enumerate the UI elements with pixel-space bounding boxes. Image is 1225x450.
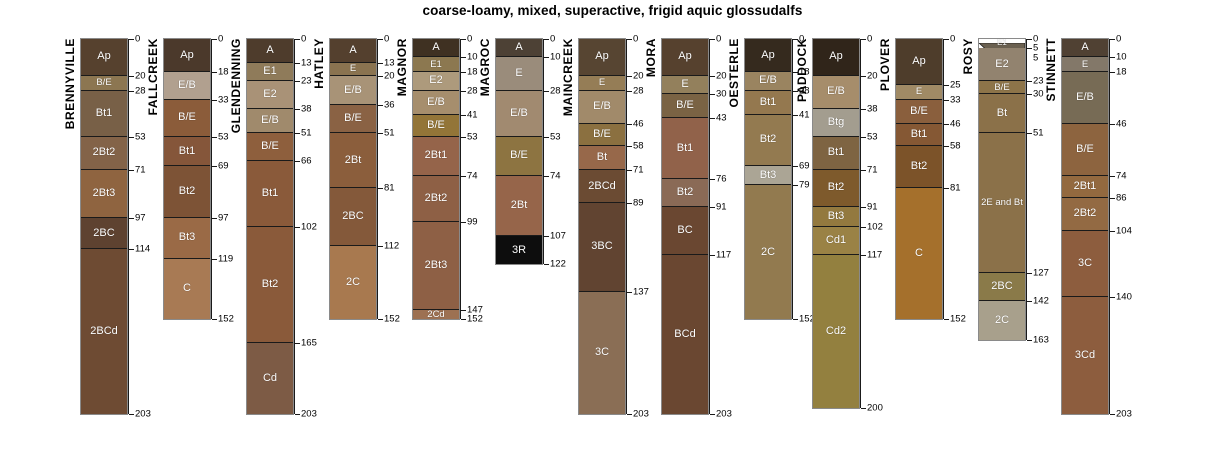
horizon-label: E1: [979, 39, 1025, 47]
depth-tick-label: 0: [633, 34, 638, 44]
horizon-label: C: [183, 283, 191, 294]
horizon-e: E: [1062, 57, 1108, 72]
depth-tick-label: 53: [550, 132, 561, 142]
depth-tick: [1110, 414, 1115, 415]
depth-tick: [861, 39, 866, 40]
horizon-b-e: B/E: [330, 105, 376, 133]
horizon-label: Bt1: [760, 97, 777, 108]
horizon-label: 2Bt2: [93, 147, 116, 158]
depth-tick-label: 28: [550, 86, 561, 96]
depth-tick: [129, 414, 134, 415]
depth-tick-label: 0: [867, 34, 872, 44]
depth-tick-label: 13: [384, 58, 395, 68]
depth-tick: [212, 72, 217, 73]
depth-tick: [861, 76, 866, 77]
horizon-ap: Ap: [81, 39, 127, 76]
horizon-2bc: 2BC: [330, 188, 376, 245]
horizon-label: E: [681, 79, 688, 90]
depth-tick: [212, 259, 217, 260]
depth-tick: [861, 170, 866, 171]
horizon-bt1: Bt1: [662, 118, 708, 179]
horizon-label: E/B: [178, 80, 196, 91]
depth-tick: [944, 124, 949, 125]
depth-tick-label: 69: [799, 162, 810, 172]
depth-tick-label: 20: [867, 71, 878, 81]
depth-tick-label: 152: [950, 315, 966, 325]
depth-tick-label: 137: [633, 287, 649, 297]
depth-tick-label: 46: [950, 119, 961, 129]
horizon-label: B/E: [96, 78, 111, 88]
depth-tick: [627, 91, 632, 92]
horizon-label: Bt: [597, 152, 607, 163]
depth-tick: [212, 319, 217, 320]
horizon-a: A: [330, 39, 376, 63]
depth-tick: [1110, 124, 1115, 125]
horizon-label: E: [515, 68, 522, 79]
horizon-label: 3C: [1078, 258, 1092, 269]
depth-tick-label: 0: [135, 34, 140, 44]
depth-tick-label: 23: [301, 77, 312, 87]
depth-tick: [295, 414, 300, 415]
horizon-e-b: E/B: [247, 109, 293, 133]
depth-tick: [212, 39, 217, 40]
depth-tick-label: 71: [867, 165, 878, 175]
horizon-3c: 3C: [579, 292, 625, 414]
horizon-bcd: BCd: [662, 255, 708, 414]
depth-tick-label: 97: [135, 213, 146, 223]
depth-tick: [544, 91, 549, 92]
soil-profile-plover: PLOVERApEB/EBt1Bt2C02533465881152: [895, 38, 943, 320]
depth-tick: [627, 76, 632, 77]
horizon-3cd: 3Cd: [1062, 297, 1108, 413]
horizon-label: Ap: [97, 51, 110, 62]
depth-tick-label: 81: [950, 184, 961, 194]
horizon-bt3: Bt3: [745, 166, 791, 184]
depth-tick-label: 79: [799, 180, 810, 190]
horizon-label: E2: [263, 89, 276, 100]
horizon-b-e: B/E: [896, 100, 942, 124]
depth-tick: [861, 207, 866, 208]
horizon-bt1: Bt1: [81, 91, 127, 137]
depth-tick-label: 119: [218, 254, 233, 264]
depth-tick: [627, 414, 632, 415]
horizon-label: 2BCd: [90, 326, 118, 337]
horizon-label: B/E: [427, 120, 445, 131]
horizon-label: A: [266, 45, 273, 56]
depth-tick-label: 117: [716, 250, 731, 260]
depth-tick-label: 86: [1116, 193, 1127, 203]
horizon-label: Bt1: [262, 188, 279, 199]
horizon-label: BCd: [674, 329, 695, 340]
depth-tick: [1110, 57, 1115, 58]
horizon-label: 2C: [995, 315, 1009, 326]
horizon-bt: Bt: [979, 94, 1025, 133]
horizon-label: Ap: [678, 51, 691, 62]
horizon-2bc: 2BC: [81, 218, 127, 249]
horizon-2bcd: 2BCd: [579, 170, 625, 203]
depth-tick: [944, 146, 949, 147]
horizon-label: E/B: [1076, 92, 1094, 103]
depth-tick-label: 142: [1033, 296, 1049, 306]
horizon-label: B/E: [910, 106, 928, 117]
depth-tick: [129, 170, 134, 171]
depth-tick: [295, 133, 300, 134]
profile-column: AE1E2E/BB/E2Bt12Bt22Bt32Cd01018284153749…: [412, 38, 460, 320]
horizon-label: E: [350, 64, 356, 74]
depth-tick: [710, 39, 715, 40]
depth-tick: [378, 39, 383, 40]
depth-tick-label: 165: [301, 339, 317, 349]
depth-tick-label: 81: [384, 184, 395, 194]
horizon-bc: BC: [662, 207, 708, 255]
depth-tick-label: 38: [301, 104, 312, 114]
depth-tick: [378, 319, 383, 320]
depth-tick-label: 53: [218, 132, 229, 142]
depth-axis: [377, 39, 378, 319]
horizon-label: Bt: [997, 108, 1007, 119]
depth-tick: [1027, 39, 1032, 40]
depth-tick-label: 91: [867, 202, 878, 212]
depth-tick-label: 66: [301, 156, 312, 166]
depth-tick-label: 104: [1116, 226, 1132, 236]
horizon-bt1: Bt1: [896, 124, 942, 146]
horizon-label: B/E: [344, 113, 362, 124]
depth-tick-label: 0: [384, 34, 389, 44]
horizon-label: 3R: [512, 245, 526, 256]
depth-tick-label: 71: [633, 165, 644, 175]
depth-axis: [460, 39, 461, 319]
horizon-cd1: Cd1: [813, 227, 859, 255]
depth-tick: [710, 207, 715, 208]
horizon-label: 2C: [346, 277, 360, 288]
horizon-e2: E2: [247, 81, 293, 109]
soil-profile-paddock: PADDOCKApE/BBtgBt1Bt2Bt3Cd1Cd20203853719…: [812, 38, 860, 409]
depth-tick: [295, 227, 300, 228]
horizon-label: Bt3: [760, 170, 777, 181]
depth-tick-label: 152: [384, 315, 400, 325]
depth-axis: [1109, 39, 1110, 414]
depth-tick-label: 28: [633, 86, 644, 96]
depth-tick-label: 10: [1116, 53, 1127, 63]
soil-profile-stinnett: STINNETTAEE/BB/E2Bt12Bt23C3Cd01018467486…: [1061, 38, 1109, 415]
soil-profile-oesterle: OESTERLEApE/BBt1Bt2Bt32C01828416979152: [744, 38, 792, 320]
horizon-e1: E1: [413, 57, 459, 72]
depth-tick-label: 69: [218, 162, 229, 172]
horizon-bt2: Bt2: [662, 179, 708, 207]
depth-tick: [1110, 39, 1115, 40]
depth-tick-label: 140: [1116, 293, 1132, 303]
horizon-e-b: E/B: [1062, 72, 1108, 124]
depth-tick: [129, 249, 134, 250]
horizon-label: 2Bt2: [425, 193, 448, 204]
horizon-b-e: B/E: [1062, 124, 1108, 176]
depth-tick: [295, 161, 300, 162]
depth-tick-label: 71: [135, 165, 146, 175]
horizon-2bt3: 2Bt3: [413, 222, 459, 311]
depth-tick-label: 20: [384, 71, 395, 81]
horizon-label: Bt1: [911, 129, 928, 140]
page-title: coarse-loamy, mixed, superactive, frigid…: [0, 3, 1225, 18]
horizon-e-b: E/B: [579, 91, 625, 124]
depth-tick-label: 13: [301, 58, 312, 68]
horizon-e-b: E/B: [413, 91, 459, 115]
depth-tick: [212, 218, 217, 219]
profile-column: AEE/BB/E2Bt3R010285374107122: [495, 38, 543, 265]
soil-profile-fallcreek: FALLCREEKApE/BB/EBt1Bt2Bt3C0183353699711…: [163, 38, 211, 320]
depth-tick: [212, 166, 217, 167]
depth-tick-label: 76: [716, 174, 727, 184]
depth-tick: [378, 246, 383, 247]
horizon-label: E2: [995, 59, 1008, 70]
horizon-e1: E1: [247, 63, 293, 81]
depth-tick-label: 203: [135, 409, 151, 419]
depth-tick: [461, 319, 466, 320]
horizon-label: Bt1: [677, 143, 694, 154]
horizon-label: 2Bt: [345, 155, 362, 166]
depth-axis: [1026, 39, 1027, 340]
horizon-label: 2BCd: [588, 181, 616, 192]
depth-tick-label: 0: [218, 34, 223, 44]
depth-tick: [944, 85, 949, 86]
depth-tick-label: 18: [467, 67, 478, 77]
depth-tick-label: 74: [467, 171, 478, 181]
depth-tick-label: 200: [867, 403, 883, 413]
horizon-a: A: [496, 39, 542, 57]
horizon-label: Btg: [828, 117, 845, 128]
depth-tick-label: 51: [1033, 128, 1044, 138]
depth-tick-label: 0: [467, 34, 472, 44]
depth-tick: [378, 76, 383, 77]
horizon-label: Cd1: [826, 235, 846, 246]
depth-tick-label: 0: [301, 34, 306, 44]
horizon-label: 2Bt3: [93, 188, 116, 199]
depth-tick: [461, 72, 466, 73]
depth-tick-label: 152: [467, 315, 483, 325]
horizon-label: B/E: [510, 150, 528, 161]
horizon-label: E/B: [427, 97, 445, 108]
horizon-label: E1: [430, 60, 442, 70]
horizon-2bt2: 2Bt2: [1062, 198, 1108, 231]
pedon-name-label: MORA: [644, 38, 658, 77]
depth-axis: [543, 39, 544, 264]
horizon-e: E: [330, 63, 376, 76]
profile-column: AEE/BB/E2Bt12Bt23C3Cd0101846748610414020…: [1061, 38, 1109, 415]
horizon-label: Bt1: [828, 147, 845, 158]
depth-tick-label: 0: [950, 34, 955, 44]
profile-column: ApEE/BB/EBt2BCd3BC3C0202846587189137203: [578, 38, 626, 415]
horizon-label: E: [1082, 60, 1088, 70]
depth-tick: [627, 203, 632, 204]
depth-tick: [461, 39, 466, 40]
horizon-b-e: B/E: [81, 76, 127, 91]
horizon-b-e: B/E: [247, 133, 293, 161]
depth-tick-label: 53: [135, 132, 146, 142]
depth-tick-label: 203: [633, 409, 649, 419]
horizon-label: 2BC: [342, 211, 363, 222]
depth-tick-label: 89: [633, 198, 644, 208]
horizon-2bc: 2BC: [979, 273, 1025, 301]
horizon-bt: Bt: [579, 146, 625, 170]
horizon-ap: Ap: [896, 39, 942, 85]
horizon-ap: Ap: [164, 39, 210, 72]
depth-tick: [710, 118, 715, 119]
horizon-e: E: [579, 76, 625, 91]
depth-tick: [793, 319, 798, 320]
soil-profile-mora: MORAApEB/EBt1Bt2BCBCd02030437691117203: [661, 38, 709, 415]
horizon-label: Bt3: [179, 232, 196, 243]
depth-tick: [544, 39, 549, 40]
horizon-label: Ap: [595, 51, 608, 62]
horizon-e2: E2: [979, 48, 1025, 81]
depth-tick-label: 23: [1033, 77, 1044, 87]
depth-tick: [710, 76, 715, 77]
depth-tick-label: 20: [633, 71, 644, 81]
depth-tick-label: 18: [1116, 67, 1127, 77]
horizon-2bt: 2Bt: [496, 176, 542, 237]
horizon-label: 2Bt1: [425, 150, 448, 161]
horizon-label: Bt2: [262, 279, 279, 290]
depth-axis: [860, 39, 861, 408]
horizon-e-b: E/B: [496, 91, 542, 137]
horizon-2cd: 2Cd: [413, 310, 459, 319]
depth-tick-label: 20: [135, 71, 146, 81]
horizon-label: Bt1: [96, 108, 113, 119]
profile-column: ApE/BB/EBt1Bt2Bt3C01833536997119152: [163, 38, 211, 320]
pedon-name-label: ROSY: [961, 38, 975, 74]
depth-tick: [544, 176, 549, 177]
pedon-name-label: MAGNOR: [395, 38, 409, 96]
depth-tick: [1027, 133, 1032, 134]
depth-tick: [544, 137, 549, 138]
depth-tick: [129, 137, 134, 138]
horizon-label: 3C: [595, 347, 609, 358]
horizon-label: E: [599, 78, 605, 88]
horizon-bt3: Bt3: [813, 207, 859, 227]
depth-tick-label: 107: [550, 232, 566, 242]
profile-column: ApE/BBtgBt1Bt2Bt3Cd1Cd202038537191102117…: [812, 38, 860, 409]
depth-tick-label: 33: [218, 95, 229, 105]
depth-tick: [544, 264, 549, 265]
depth-axis: [792, 39, 793, 319]
horizon-b-e: B/E: [164, 100, 210, 137]
pedon-name-label: FALLCREEK: [146, 38, 160, 115]
horizon-e: E: [662, 76, 708, 94]
profile-column: E1E2B/EBt2E and Bt2BC2C05523305112714216…: [978, 38, 1026, 341]
depth-tick: [1027, 94, 1032, 95]
horizon-e: E: [496, 57, 542, 90]
horizon-label: 2Bt2: [1074, 208, 1097, 219]
horizon-2c: 2C: [979, 301, 1025, 340]
depth-tick: [710, 94, 715, 95]
horizon-2bt1: 2Bt1: [1062, 176, 1108, 198]
pedon-name-label: PADDOCK: [795, 38, 809, 102]
horizon-ap: Ap: [745, 39, 791, 72]
pedon-name-label: MAGROC: [478, 38, 492, 96]
horizon-label: B/E: [994, 83, 1009, 93]
horizon-label: Ap: [912, 56, 925, 67]
horizon-label: Ap: [761, 50, 774, 61]
profile-column: ApE/BBt1Bt2Bt32C01828416979152: [744, 38, 792, 320]
horizon-label: 2BC: [991, 281, 1012, 292]
horizon-label: E/B: [261, 115, 279, 126]
depth-tick: [378, 63, 383, 64]
depth-tick-label: 41: [799, 110, 810, 120]
horizon-2bt3: 2Bt3: [81, 170, 127, 218]
depth-tick: [129, 91, 134, 92]
horizon-bt1: Bt1: [247, 161, 293, 227]
depth-tick: [1027, 48, 1032, 49]
horizon-bt1: Bt1: [164, 137, 210, 167]
depth-tick-label: 36: [384, 101, 395, 111]
horizon-b-e: B/E: [662, 94, 708, 118]
depth-tick: [295, 343, 300, 344]
horizon-label: Cd2: [826, 326, 846, 337]
horizon-label: E/B: [593, 101, 611, 112]
pedon-name-label: STINNETT: [1044, 38, 1058, 101]
depth-tick: [627, 292, 632, 293]
horizon-e-b: E/B: [164, 72, 210, 100]
horizon-2bt2: 2Bt2: [81, 137, 127, 170]
soil-profile-hatley: HATLEYAEE/BB/E2Bt2BC2C01320365181112152: [329, 38, 377, 320]
depth-tick-label: 97: [218, 213, 229, 223]
pedon-name-label: HATLEY: [312, 38, 326, 89]
soil-profile-magroc: MAGROCAEE/BB/E2Bt3R010285374107122: [495, 38, 543, 265]
horizon-label: E: [916, 87, 922, 97]
depth-tick: [378, 105, 383, 106]
depth-tick-label: 0: [716, 34, 721, 44]
horizon-e2: E2: [413, 72, 459, 90]
horizon-2bt1: 2Bt1: [413, 137, 459, 176]
depth-tick-label: 28: [135, 86, 146, 96]
horizon-a: A: [247, 39, 293, 63]
depth-tick: [627, 146, 632, 147]
horizon-3c: 3C: [1062, 231, 1108, 297]
depth-axis: [626, 39, 627, 414]
horizon-c: C: [896, 188, 942, 319]
depth-tick-label: 91: [716, 202, 727, 212]
depth-tick: [793, 185, 798, 186]
horizon-label: Bt3: [828, 211, 845, 222]
horizon-bt2: Bt2: [164, 166, 210, 218]
horizon-label: 2Bt1: [1074, 181, 1097, 192]
depth-tick: [1110, 176, 1115, 177]
horizon-3bc: 3BC: [579, 203, 625, 292]
depth-tick-label: 30: [1033, 90, 1044, 100]
depth-tick: [1027, 301, 1032, 302]
depth-tick: [544, 57, 549, 58]
horizon-label: E2: [429, 75, 442, 86]
depth-tick: [861, 137, 866, 138]
horizon-label: Bt2: [760, 134, 777, 145]
depth-tick: [212, 100, 217, 101]
horizon-label: 2BC: [93, 228, 114, 239]
depth-tick: [1110, 72, 1115, 73]
depth-tick: [793, 166, 798, 167]
horizon-label: E/B: [827, 86, 845, 97]
depth-tick-label: 203: [716, 409, 732, 419]
horizon-ap: Ap: [813, 39, 859, 76]
horizon-label: C: [915, 248, 923, 259]
horizon-label: A: [515, 42, 522, 53]
depth-tick-label: 102: [301, 222, 317, 232]
horizon-bt2: Bt2: [813, 170, 859, 207]
horizon-2e-and-bt: 2E and Bt: [979, 133, 1025, 273]
horizon-e-b: E/B: [330, 76, 376, 106]
horizon-wedge-e1: E1: [979, 39, 1025, 48]
horizon-a: A: [1062, 39, 1108, 57]
horizon-label: Bt2: [179, 186, 196, 197]
horizon-label: 2Bt3: [425, 260, 448, 271]
